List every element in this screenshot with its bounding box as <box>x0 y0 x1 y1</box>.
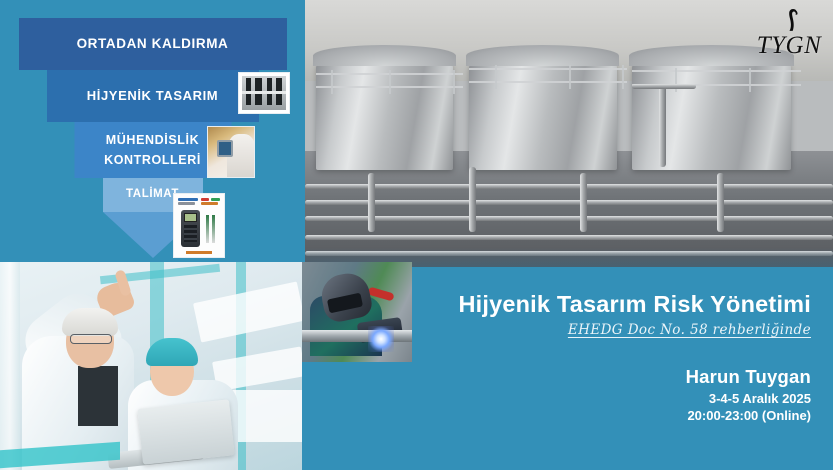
subtitle: EHEDG Doc No. 58 rehberliğinde <box>412 322 811 338</box>
pipe-riser <box>469 167 476 232</box>
meter-keypad <box>184 225 198 242</box>
equipment-frame <box>242 76 286 110</box>
engineering-controls-operator-photo <box>207 126 255 178</box>
instrument-card <box>174 194 224 257</box>
hygienic-design-equipment-photo <box>238 72 290 114</box>
pyramid-level-label-line2: KONTROLLERİ <box>104 153 201 168</box>
pipe-riser <box>580 173 587 232</box>
railing-post <box>389 70 391 94</box>
measurement-instrument-photo <box>173 193 225 258</box>
process-tanks-photo: TYGN <box>305 0 833 270</box>
railing-post <box>622 65 624 89</box>
brand-strip <box>186 251 212 254</box>
railing-post <box>569 65 571 89</box>
tank-3 <box>632 62 790 170</box>
pipe <box>305 200 833 205</box>
probe <box>206 215 209 243</box>
event-hours: 20:00-23:00 (Online) <box>412 408 811 423</box>
railing <box>469 81 627 83</box>
logo-text: TYGN <box>757 33 822 58</box>
pyramid-level-label: ORTADAN KALDIRMA <box>77 36 229 52</box>
tygn-logo: TYGN <box>753 6 825 58</box>
tank-2 <box>469 62 617 170</box>
railing-post <box>453 70 455 94</box>
eyeglasses-icon <box>70 334 112 344</box>
control-tablet <box>217 140 233 157</box>
meter-display <box>184 213 196 222</box>
page-title: Hijyenik Tasarım Risk Yönetimi <box>412 291 811 318</box>
welding-arc-spark <box>368 326 394 352</box>
poster-canvas: TYGN ORTADAN KALDIRMA HİJYENİK TASARIM M… <box>0 0 833 470</box>
welder-photo <box>302 262 412 362</box>
pyramid-level-label: HİJYENİK TASARIM <box>87 88 218 103</box>
pipe-riser <box>368 173 375 232</box>
bird-icon <box>783 8 803 32</box>
event-dates: 3-4-5 Aralık 2025 <box>412 391 811 406</box>
pipe <box>305 184 833 189</box>
pipe <box>305 235 833 240</box>
vertical-pipe <box>659 86 666 167</box>
probe <box>212 215 215 243</box>
pipe <box>305 216 833 221</box>
pyramid-level-label: TALİMAT <box>126 188 179 202</box>
pillar <box>0 262 20 470</box>
equipment-shelf <box>193 281 302 342</box>
railing <box>632 70 801 72</box>
railing-post <box>331 70 333 94</box>
pyramid-level-hygienic-design: HİJYENİK TASARIM <box>47 70 259 122</box>
handheld-meter <box>181 210 200 247</box>
scientists-in-lab-photo <box>0 262 302 470</box>
hair-net <box>62 308 118 336</box>
railing-post <box>495 65 497 89</box>
male-scientist-shirt <box>78 366 118 426</box>
title-panel: Hijyenik Tasarım Risk Yönetimi EHEDG Doc… <box>412 267 833 463</box>
pyramid-level-elimination: ORTADAN KALDIRMA <box>19 18 287 70</box>
railing <box>469 68 627 70</box>
hygiene-cap <box>146 338 198 366</box>
pipe <box>632 84 695 89</box>
railing-post <box>749 68 751 92</box>
steel-pipe <box>302 330 412 342</box>
hierarchy-of-controls-pyramid: ORTADAN KALDIRMA HİJYENİK TASARIM MÜHEND… <box>0 0 305 262</box>
tank-1 <box>316 62 453 170</box>
pipe-riser <box>717 173 724 232</box>
speaker-name: Harun Tuygan <box>412 366 811 388</box>
pyramid-level-label-line1: MÜHENDİSLİK <box>106 133 199 148</box>
operator-scene <box>208 127 254 177</box>
laptop-screen <box>137 399 234 464</box>
